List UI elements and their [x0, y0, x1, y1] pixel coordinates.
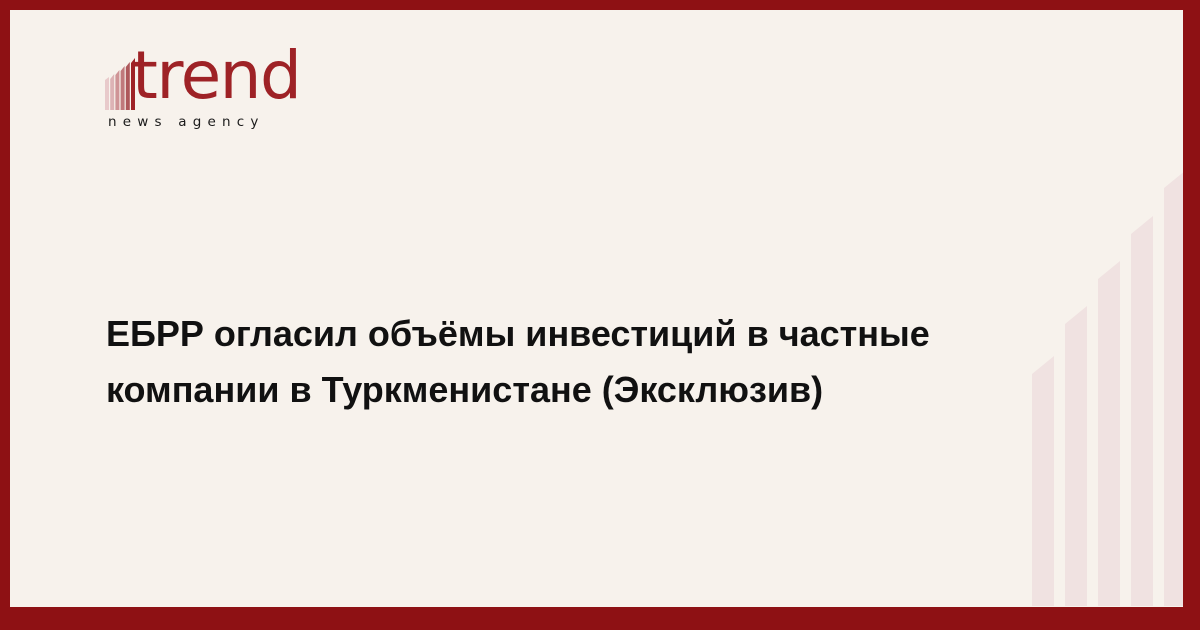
headline: ЕБРР огласил объёмы инвестиций в частные…: [106, 306, 1006, 418]
ascending-bars-graphic: [1032, 170, 1183, 606]
headline-line-2: компании в Туркменистане (Эксклюзив): [106, 362, 1006, 418]
logo-wordmark: trend: [132, 43, 300, 109]
share-card: trend news agency ЕБРР огласил объёмы ин…: [0, 0, 1200, 630]
decor-bar: [1032, 356, 1054, 606]
headline-line-1: ЕБРР огласил объёмы инвестиций в частные: [106, 306, 1006, 362]
trend-logo[interactable]: trend news agency: [105, 52, 365, 142]
frame-left-border: [0, 0, 10, 630]
decor-bar: [1164, 170, 1183, 606]
card-canvas: trend news agency ЕБРР огласил объёмы ин…: [10, 10, 1183, 607]
frame-top-border: [0, 0, 1200, 10]
frame-right-border: [1183, 0, 1200, 630]
decor-bar: [1065, 306, 1087, 606]
decor-bar: [1131, 216, 1153, 606]
logo-tagline: news agency: [108, 114, 265, 130]
frame-bottom-border: [0, 607, 1200, 630]
decor-bar: [1098, 261, 1120, 606]
